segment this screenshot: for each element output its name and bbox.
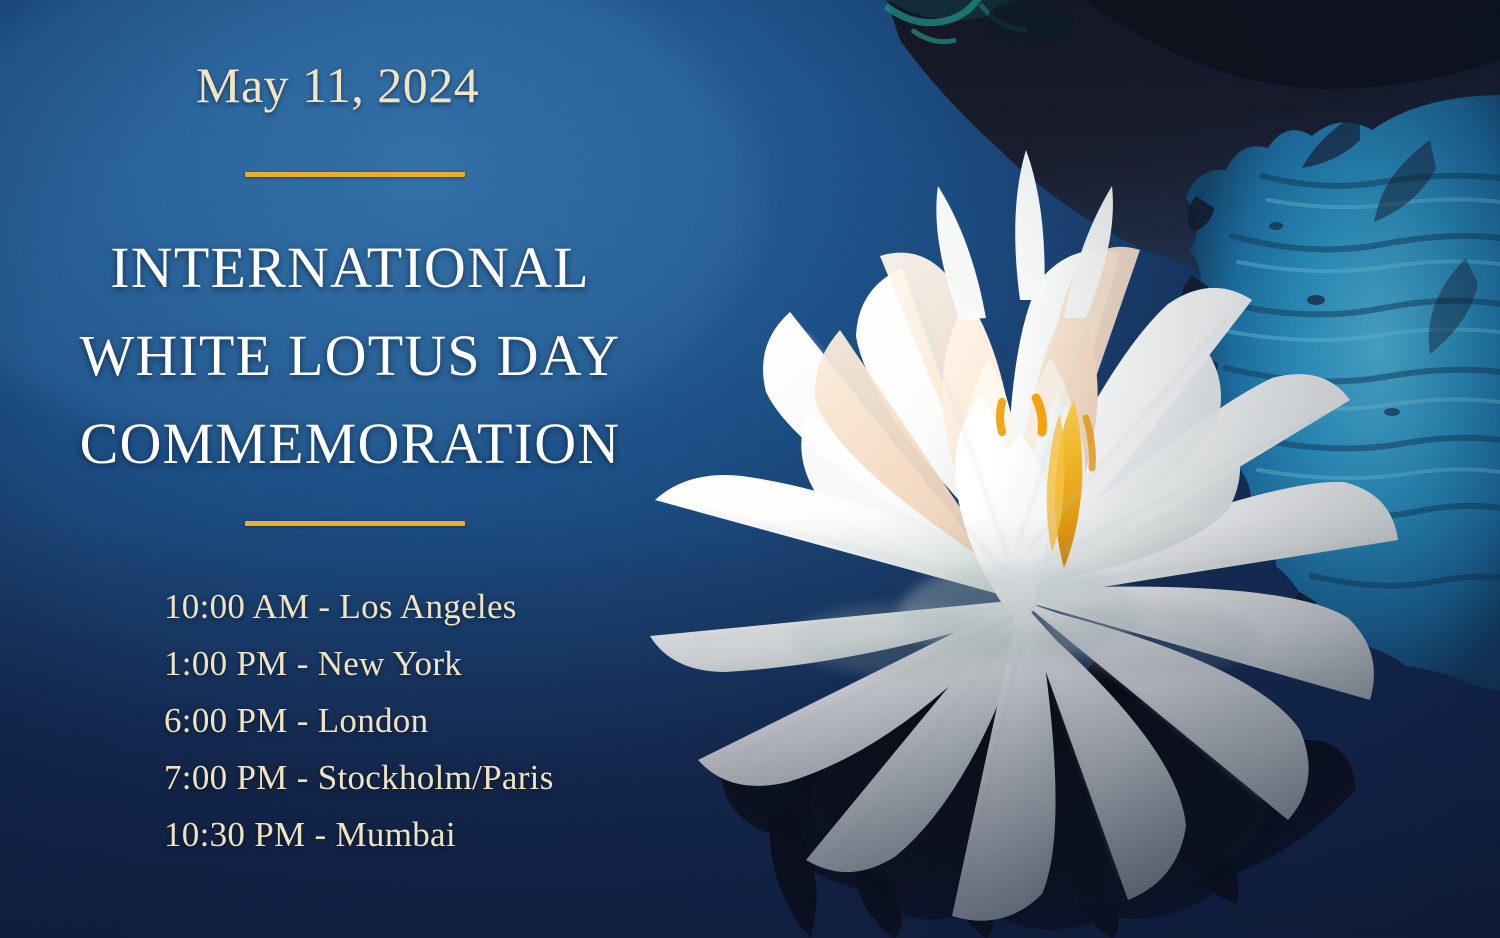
page-title-line-1: INTERNATIONAL <box>0 224 700 312</box>
poster-text-content: May 11, 2024 INTERNATIONAL WHITE LOTUS D… <box>0 0 700 938</box>
poster-canvas: May 11, 2024 INTERNATIONAL WHITE LOTUS D… <box>0 0 1500 938</box>
list-item: 7:00 PM - Stockholm/Paris <box>164 749 554 806</box>
list-item: 6:00 PM - London <box>164 692 554 749</box>
list-item: 1:00 PM - New York <box>164 635 554 692</box>
page-title-line-3: COMMEMORATION <box>0 400 700 488</box>
gold-divider-top <box>245 172 465 177</box>
event-date: May 11, 2024 <box>196 58 479 113</box>
timezone-schedule-list: 10:00 AM - Los Angeles 1:00 PM - New Yor… <box>164 578 554 863</box>
page-title-line-2: WHITE LOTUS DAY <box>0 312 700 400</box>
list-item: 10:00 AM - Los Angeles <box>164 578 554 635</box>
page-title: INTERNATIONAL WHITE LOTUS DAY COMMEMORAT… <box>0 224 700 488</box>
list-item: 10:30 PM - Mumbai <box>164 806 554 863</box>
gold-divider-bottom <box>245 521 465 526</box>
